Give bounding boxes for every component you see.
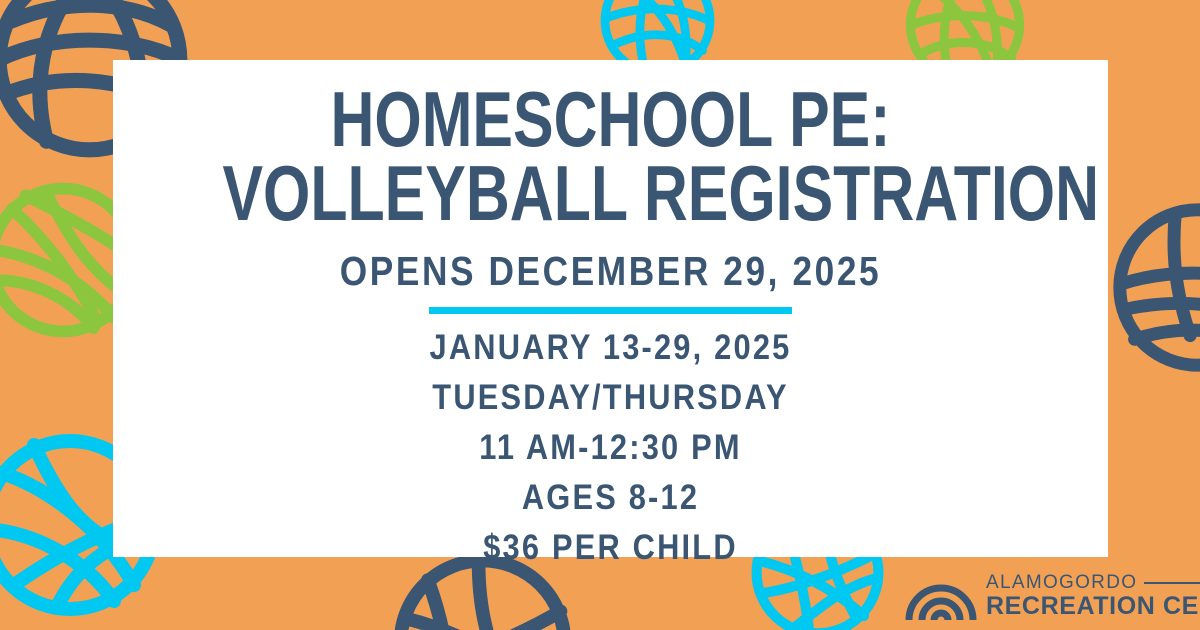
logo-wordmark: ALAMOGORDO RECREATION CENTER	[986, 573, 1200, 620]
detail-ages: AGES 8-12	[173, 478, 1049, 517]
accent-divider	[429, 307, 792, 314]
detail-time: 11 AM-12:30 PM	[173, 428, 1049, 467]
detail-price: $36 PER CHILD	[173, 528, 1049, 567]
detail-days: TUESDAY/THURSDAY	[173, 378, 1049, 417]
logo-top-row: ALAMOGORDO	[986, 573, 1200, 592]
page-title-line-1: HOMESCHOOL PE:	[222, 84, 998, 156]
registration-opens-date: OPENS DECEMBER 29, 2025	[183, 248, 1039, 295]
volleyball-right-edge	[1105, 195, 1200, 380]
logo-organization-name: ALAMOGORDO	[986, 573, 1137, 592]
content-card: HOMESCHOOL PE: VOLLEYBALL REGISTRATION O…	[113, 60, 1108, 557]
organization-logo: ALAMOGORDO RECREATION CENTER	[905, 573, 1200, 620]
logo-rule	[1144, 582, 1200, 584]
logo-facility-name: RECREATION CENTER	[986, 593, 1200, 619]
program-details-list: JANUARY 13-29, 2025 TUESDAY/THURSDAY 11 …	[113, 328, 1108, 568]
poster-canvas: HOMESCHOOL PE: VOLLEYBALL REGISTRATION O…	[0, 0, 1200, 630]
page-title-line-2: VOLLEYBALL REGISTRATION	[222, 158, 998, 230]
arch-logo-icon	[905, 575, 977, 620]
detail-dates: JANUARY 13-29, 2025	[173, 328, 1049, 367]
